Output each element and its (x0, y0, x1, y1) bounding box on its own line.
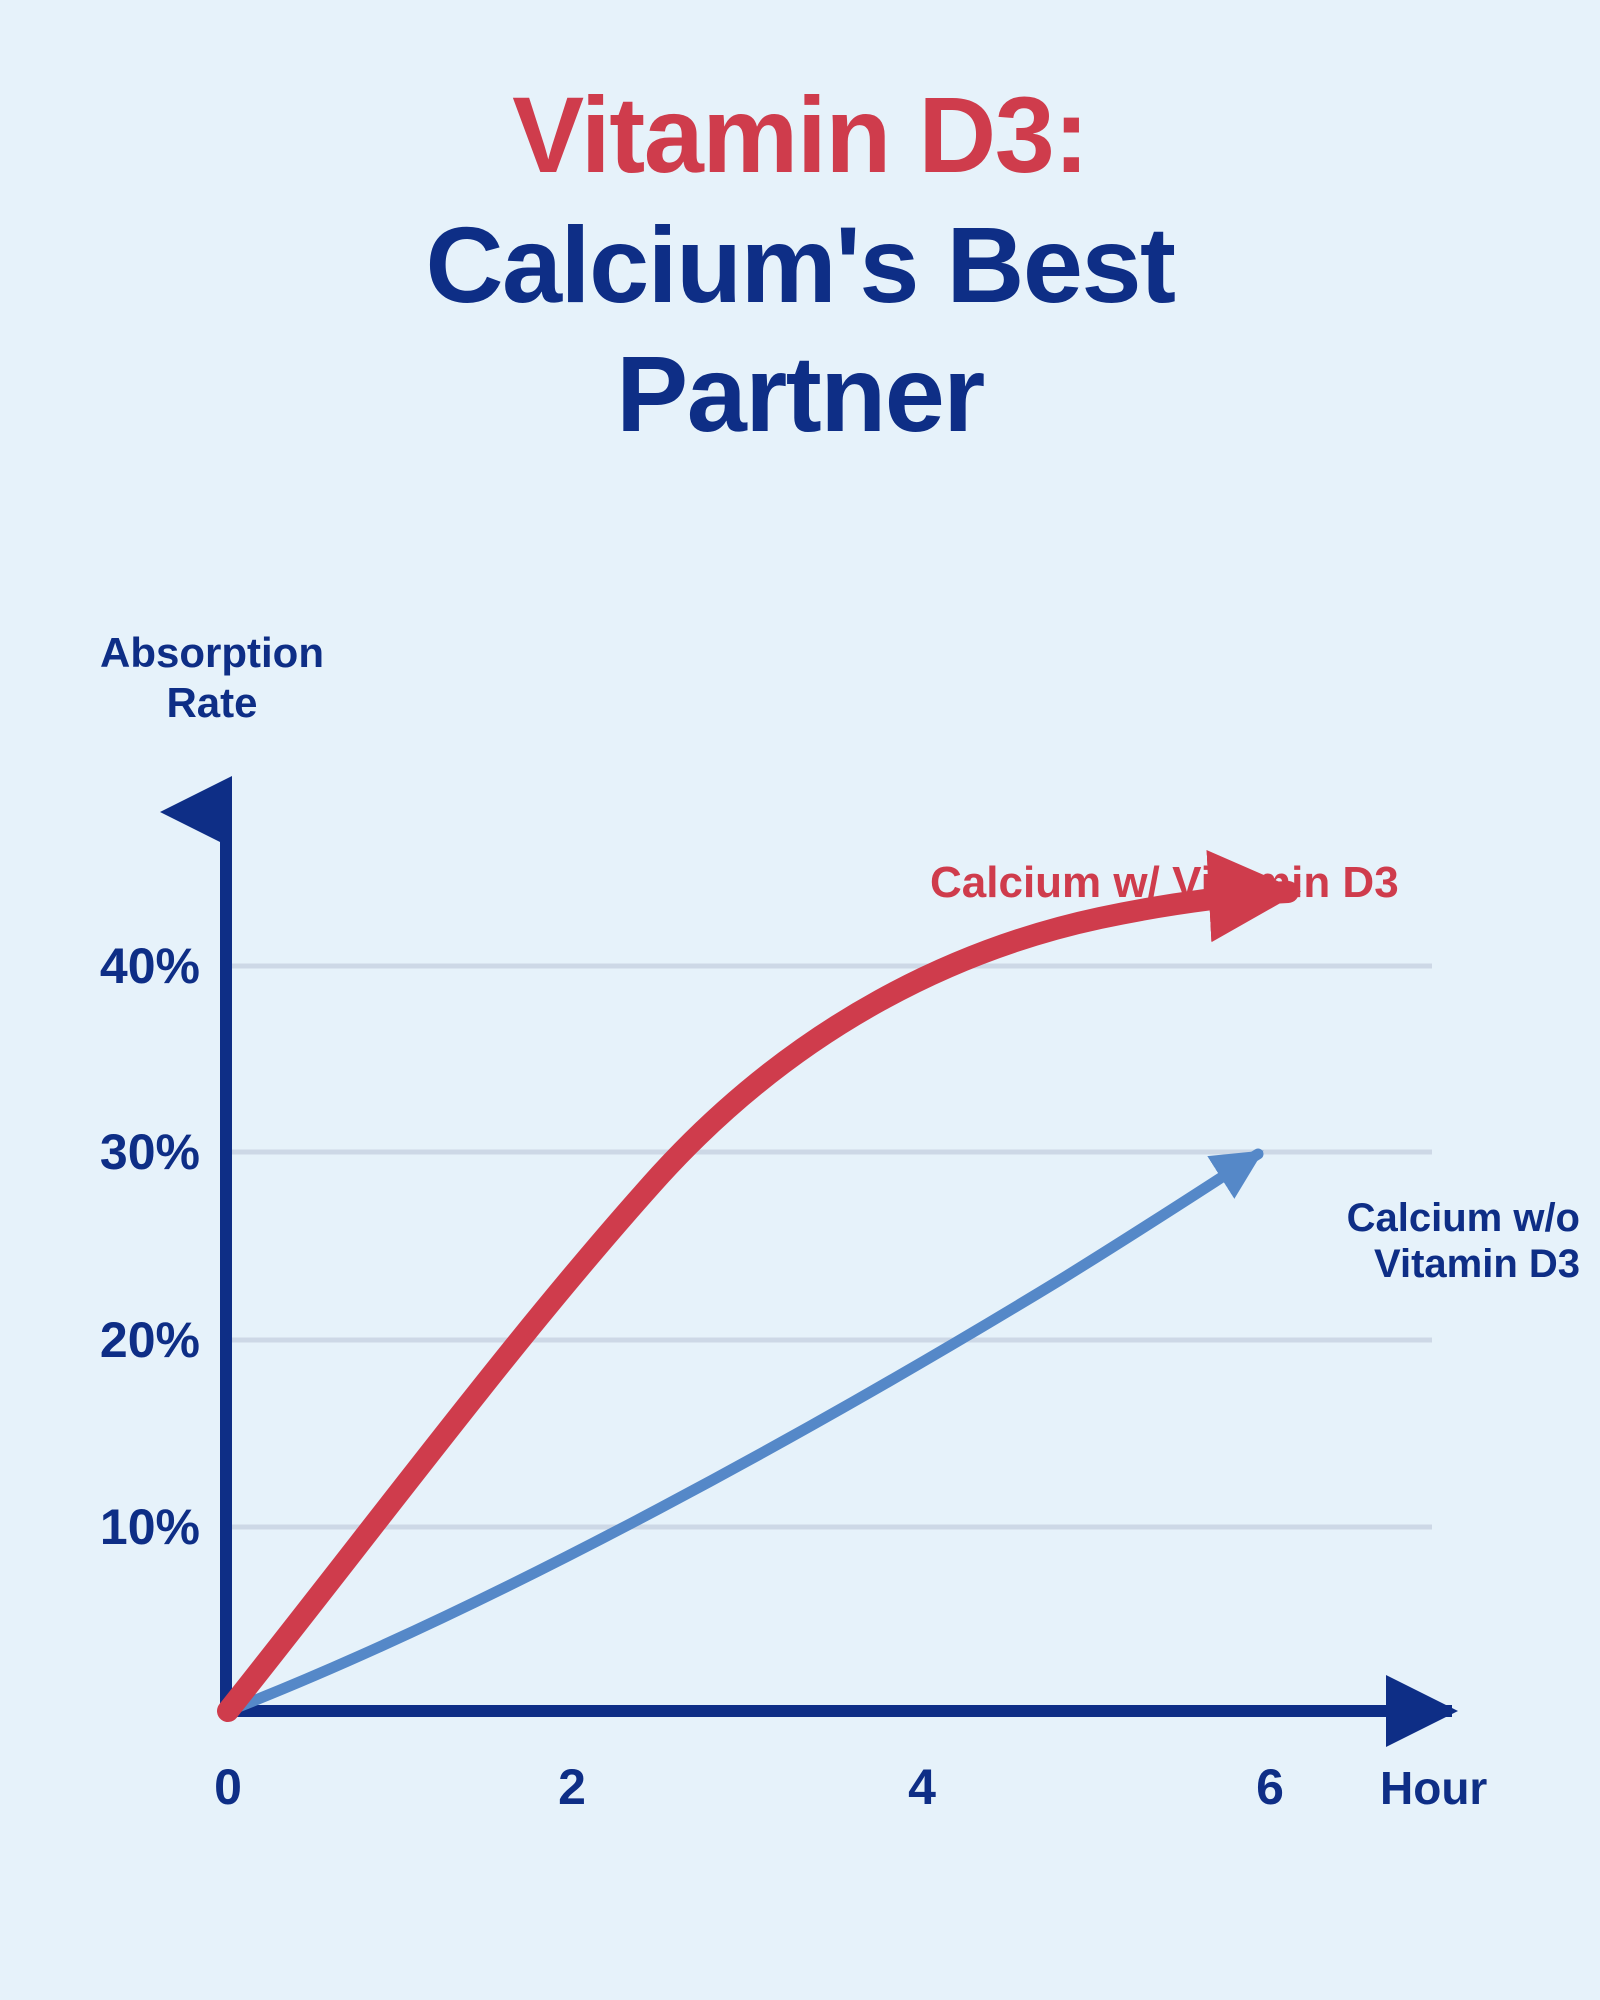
gridlines (228, 966, 1432, 1527)
y-tick-10: 10% (0, 1502, 200, 1552)
series-line-without-d3 (228, 1154, 1258, 1711)
axes (220, 812, 1452, 1713)
x-tick-4: 4 (862, 1762, 982, 1812)
y-tick-40: 40% (0, 941, 200, 991)
infographic-canvas: Vitamin D3: Calcium's Best Partner Absor… (0, 0, 1600, 2000)
chart-plot-area (0, 0, 1600, 2000)
x-tick-2: 2 (512, 1762, 632, 1812)
y-tick-20: 20% (0, 1315, 200, 1365)
y-tick-labels: 40% 30% 20% 10% (0, 0, 200, 2000)
series-line-with-d3 (228, 892, 1288, 1711)
x-tick-0: 0 (168, 1762, 288, 1812)
y-tick-30: 30% (0, 1127, 200, 1177)
x-tick-6: 6 (1210, 1762, 1330, 1812)
